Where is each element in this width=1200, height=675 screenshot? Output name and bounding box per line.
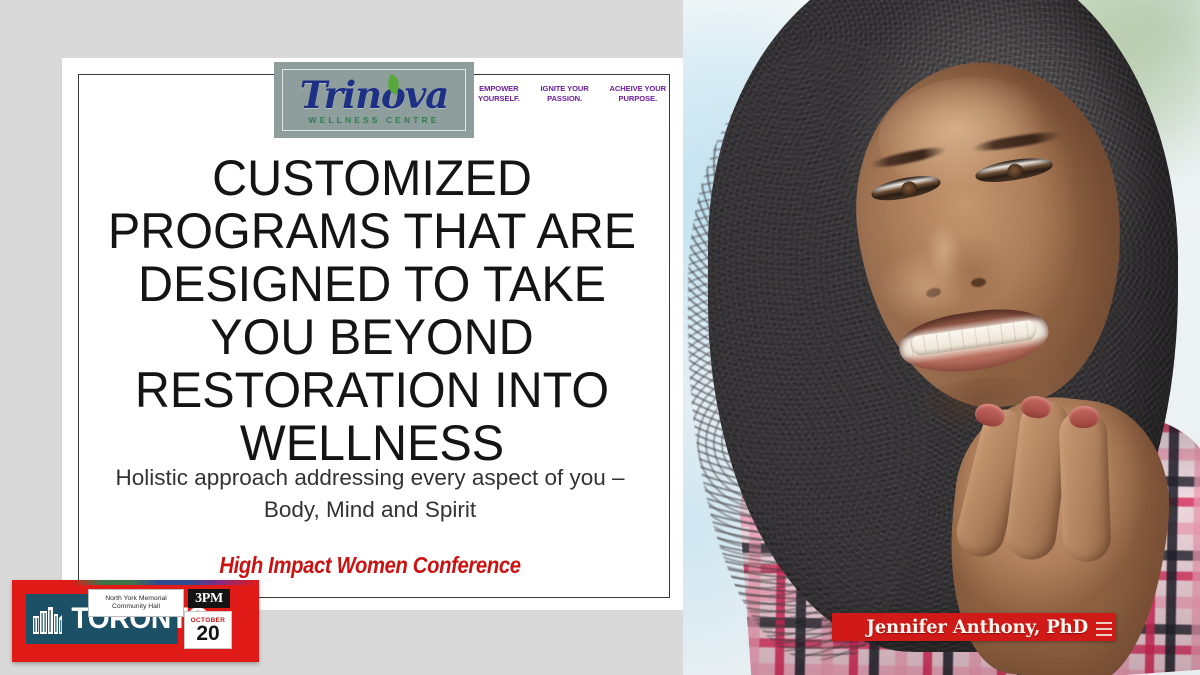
iris-right xyxy=(1006,163,1024,180)
speaker-name: Jennifer Anthony, PhD xyxy=(839,613,1109,641)
logo-frame: Trinova WELLNESS CENTRE xyxy=(282,69,466,131)
venue-line-2: Community Hall xyxy=(112,603,160,611)
banner-tick-marks xyxy=(1096,618,1112,636)
tagline-ignite: IGNITE YOUR PASSION. xyxy=(541,84,589,105)
slide-headline: CUSTOMIZED PROGRAMS THAT ARE DESIGNED TO… xyxy=(100,152,643,470)
tagline-empower: EMPOWER YOURSELF. xyxy=(478,84,520,105)
logo-subtitle: WELLNESS CENTRE xyxy=(308,115,439,125)
event-date-calendar: OCTOBER 20 xyxy=(184,611,232,649)
finger xyxy=(1058,409,1111,563)
event-time: 3PM xyxy=(188,589,230,608)
iris-left xyxy=(900,180,919,198)
speaker-name-banner: Jennifer Anthony, PhD xyxy=(832,613,1116,641)
cheek-highlight xyxy=(879,250,965,324)
tagline-acheive: ACHEIVE YOUR PURPOSE. xyxy=(610,84,666,105)
teeth xyxy=(910,319,1038,356)
conference-title: High Impact Women Conference xyxy=(129,552,611,579)
venue-line-1: North York Memorial xyxy=(105,595,167,603)
trinova-logo: Trinova WELLNESS CENTRE xyxy=(274,62,474,138)
slide-subtitle: Holistic approach addressing every aspec… xyxy=(96,462,644,526)
fingernail xyxy=(1069,405,1100,428)
brand-taglines: EMPOWER YOURSELF. IGNITE YOUR PASSION. A… xyxy=(478,84,666,105)
logo-wordmark: Trinova xyxy=(300,77,448,114)
speaker-photo xyxy=(683,0,1200,675)
venue-card: North York Memorial Community Hall xyxy=(88,589,184,617)
badge-color-stripe xyxy=(12,580,259,585)
event-banner-image: Trinova WELLNESS CENTRE EMPOWER YOURSELF… xyxy=(0,0,1200,675)
event-location-badge: TORONTO North York Memorial Community Ha… xyxy=(12,580,259,662)
calendar-day: 20 xyxy=(196,623,219,644)
city-skyline-icon xyxy=(31,602,65,636)
